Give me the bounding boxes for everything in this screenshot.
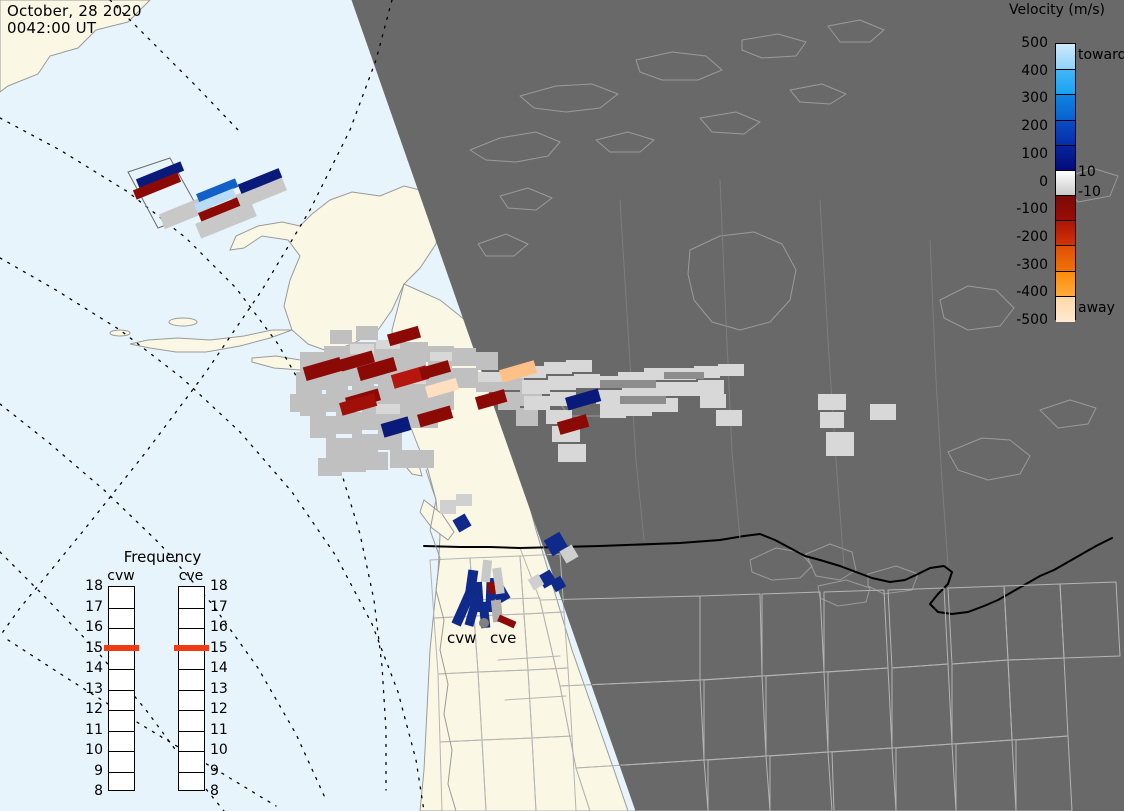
frequency-segment-divider <box>179 731 204 732</box>
colorbar-band-400 <box>1056 69 1075 95</box>
frequency-level-17: 17 <box>85 599 103 615</box>
frequency-bar-cvw <box>108 586 135 791</box>
frequency-segment-divider <box>179 690 204 691</box>
colorbar-tick--500: -500 <box>1016 312 1048 328</box>
frequency-segment-divider <box>179 772 204 773</box>
colorbar-tick--400: -400 <box>1016 284 1048 300</box>
title-time: 0042:00 UT <box>7 19 96 37</box>
colorbar-away-label: away <box>1078 300 1115 316</box>
colorbar-tick-300: 300 <box>1021 90 1048 106</box>
frequency-level-15: 15 <box>85 640 103 656</box>
frequency-level-18: 18 <box>85 578 103 594</box>
frequency-level-13: 13 <box>210 681 228 697</box>
frequency-column-label-cvw: cvw <box>101 568 141 584</box>
frequency-segment-divider <box>179 628 204 629</box>
frequency-level-8: 8 <box>85 783 103 799</box>
frequency-level-10: 10 <box>210 742 228 758</box>
station-label-cvw: cvw <box>447 629 476 647</box>
frequency-segment-divider <box>109 710 134 711</box>
frequency-segment-divider <box>109 669 134 670</box>
colorbar-tick-400: 400 <box>1021 63 1048 79</box>
frequency-level-10: 10 <box>85 742 103 758</box>
frequency-level-11: 11 <box>85 722 103 738</box>
colorbar-band--100 <box>1056 195 1075 221</box>
colorbar-band--400 <box>1056 271 1075 297</box>
velocity-colorbar: Velocity (m/s) 5004003002001000-100-200-… <box>990 0 1124 340</box>
frequency-legend: Frequency cvw cve 1817161514131211109818… <box>85 548 240 796</box>
frequency-segment-divider <box>179 751 204 752</box>
colorbar-title: Velocity (m/s) <box>990 2 1124 18</box>
frequency-level-16: 16 <box>210 619 228 635</box>
frequency-level-12: 12 <box>85 701 103 717</box>
frequency-level-8: 8 <box>210 783 219 799</box>
colorbar-band-0 <box>1056 170 1075 196</box>
frequency-segment-divider <box>179 608 204 609</box>
colorbar-tick--300: -300 <box>1016 257 1048 273</box>
colorbar-tick-500: 500 <box>1021 35 1048 51</box>
title-date: October, 28 2020 <box>7 2 142 20</box>
colorbar-tick-200: 200 <box>1021 118 1048 134</box>
colorbar-band-500 <box>1056 44 1075 69</box>
timestamp-title: October, 28 20200042:00 UT <box>7 3 142 37</box>
colorbar-negative-threshold-label: -10 <box>1078 184 1101 200</box>
colorbar-band-300 <box>1056 94 1075 120</box>
frequency-segment-divider <box>179 669 204 670</box>
frequency-segment-divider <box>109 731 134 732</box>
frequency-level-13: 13 <box>85 681 103 697</box>
frequency-level-9: 9 <box>210 763 219 779</box>
frequency-column-label-cve: cve <box>171 568 211 584</box>
frequency-level-11: 11 <box>210 722 228 738</box>
colorbar-tick-100: 100 <box>1021 146 1048 162</box>
frequency-bar-cve <box>178 586 205 791</box>
frequency-segment-divider <box>179 710 204 711</box>
colorbar-positive-threshold-label: 10 <box>1078 164 1096 180</box>
frequency-segment-divider <box>109 608 134 609</box>
colorbar-gradient-box <box>1055 43 1076 320</box>
frequency-legend-title: Frequency <box>85 548 240 566</box>
frequency-level-12: 12 <box>210 701 228 717</box>
frequency-segment-divider <box>109 628 134 629</box>
frequency-segment-divider <box>109 690 134 691</box>
colorbar-band-100 <box>1056 145 1075 171</box>
station-label-cve: cve <box>490 629 516 647</box>
frequency-level-16: 16 <box>85 619 103 635</box>
frequency-level-14: 14 <box>85 660 103 676</box>
colorbar-toward-label: toward <box>1078 47 1124 63</box>
frequency-level-14: 14 <box>210 660 228 676</box>
colorbar-tick-0: 0 <box>1039 174 1048 190</box>
colorbar-tick--100: -100 <box>1016 201 1048 217</box>
colorbar-band--300 <box>1056 245 1075 271</box>
frequency-level-9: 9 <box>85 763 103 779</box>
frequency-level-15: 15 <box>210 640 228 656</box>
frequency-highlight-cve <box>174 645 209 651</box>
frequency-segment-divider <box>109 772 134 773</box>
radar-velocity-map: cvw cve October, 28 20200042:00 UT Veloc… <box>0 0 1124 811</box>
frequency-segment-divider <box>109 751 134 752</box>
frequency-level-17: 17 <box>210 599 228 615</box>
colorbar-band-200 <box>1056 120 1075 146</box>
colorbar-tick--200: -200 <box>1016 229 1048 245</box>
colorbar-band--200 <box>1056 220 1075 246</box>
frequency-highlight-cvw <box>104 645 139 651</box>
frequency-level-18: 18 <box>210 578 228 594</box>
colorbar-band--500 <box>1056 296 1075 322</box>
